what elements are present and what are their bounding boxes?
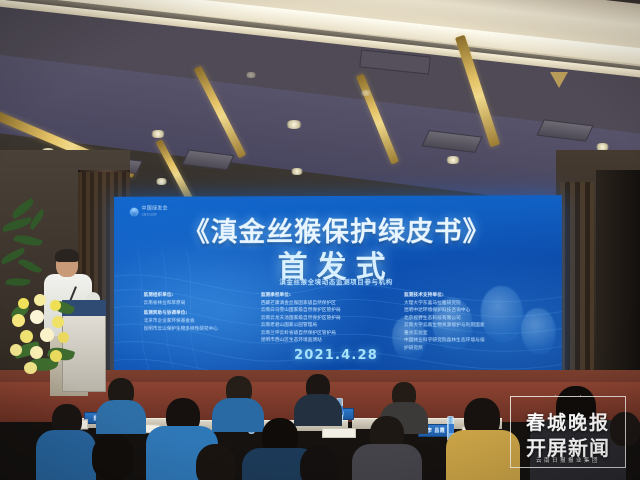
- watermark-line1: 春城晚报: [502, 408, 634, 435]
- audience-torso-back-1: [96, 400, 146, 434]
- flower-arrangement: [8, 292, 80, 378]
- institution-line: 云南老君山国家公园管理局: [261, 322, 394, 330]
- audience-torso-mid-1: [36, 430, 96, 480]
- audience-head-front-1: [92, 434, 134, 480]
- wall-right-wood-panel: [560, 182, 594, 392]
- led-screen: 中国绿发会 CBCGDF 《滇金丝猴保护绿皮书》 首发式 滇金丝猴全境动态监测项…: [114, 195, 562, 389]
- monkey-figure-2: [432, 298, 472, 350]
- watermark-line3: 云南日报报业集团: [502, 456, 634, 464]
- ceiling-spotlight-8: [245, 72, 257, 78]
- monkey-figure-3: [481, 286, 524, 342]
- screen-column-1: 监测组织单位:云南省林业和草原局监测资助与协调单位:北京市企业家环保基金会昆明市…: [144, 292, 251, 355]
- ceiling-spotlight-9: [360, 90, 372, 96]
- watermark-logo: 春城晚报 开屏新闻 云南日报报业集团: [502, 392, 634, 472]
- institution-line: 北京市企业家环保基金会: [144, 318, 251, 326]
- institution-line: 云南白马雪山国家级自然保护区管护局: [261, 307, 394, 315]
- ceiling-spotlight-3: [285, 120, 303, 129]
- audience-torso-back-3: [294, 394, 342, 426]
- institution-block-heading: 监测资助与协调单位:: [144, 310, 251, 317]
- institution-line: 云南省林业和草原局: [144, 300, 251, 307]
- monkey-figure-1: [392, 316, 426, 360]
- ceiling-cone-fixture: [550, 72, 568, 88]
- monkey-figure-4: [521, 308, 556, 354]
- institution-line: 云南云龙天池国家级自然保护区管护局: [261, 315, 394, 323]
- institution-block: 监测承担单位:西藏芒康滇金丝猴国家级自然保护区云南白马雪山国家级自然保护区管护局…: [261, 292, 394, 345]
- audience-head-front-3: [300, 446, 338, 480]
- document-3: [322, 428, 356, 438]
- audience-torso-mid-4: [352, 444, 422, 480]
- watermark-notch-icon: [555, 395, 581, 406]
- institution-block: 监测资助与协调单位:北京市企业家环保基金会昆明市云山保护生物多样性研究中心: [144, 310, 251, 333]
- nameplate-4-text: 李 昌霞: [427, 427, 445, 434]
- ceiling-spotlight-6: [155, 178, 168, 185]
- ceiling-spotlight-2: [150, 130, 166, 138]
- ceiling-spotlight-5: [290, 168, 304, 175]
- institution-block-heading: 监测承担单位:: [261, 292, 394, 299]
- conference-photo: 中国绿发会 CBCGDF 《滇金丝猴保护绿皮书》 首发式 滇金丝猴全境动态监测项…: [0, 0, 640, 480]
- speaker-hair: [55, 249, 79, 262]
- institution-block-heading: 监测组织单位:: [144, 292, 251, 299]
- institution-block: 监测组织单位:云南省林业和草原局: [144, 292, 251, 307]
- audience-torso-back-2: [212, 398, 264, 432]
- screen-column-2: 监测承担单位:西藏芒康滇金丝猴国家级自然保护区云南白马雪山国家级自然保护区管护局…: [261, 292, 394, 355]
- institution-line: 西藏芒康滇金丝猴国家级自然保护区: [261, 300, 394, 307]
- institution-line: 昆明市西山区生态环境监测站: [261, 337, 394, 345]
- institution-line: 昆明市云山保护生物多样性研究中心: [144, 325, 251, 333]
- audience-head-front-2: [196, 444, 236, 480]
- ceiling-spotlight-4: [445, 156, 461, 164]
